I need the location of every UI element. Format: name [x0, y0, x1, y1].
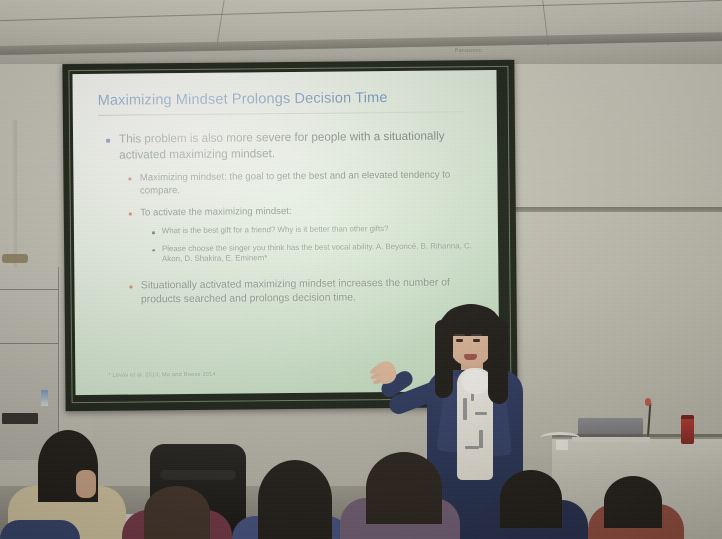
cable [540, 432, 580, 444]
slide-footnote: * Levav et al. 2013; Ma and Roese 2014 [108, 372, 215, 379]
right-wall-seam [512, 207, 722, 212]
equipment-cabinet[interactable] [0, 267, 59, 460]
bullet-level3: What is the best gift for a friend? Why … [152, 223, 478, 237]
bullet-marker [152, 231, 155, 234]
thermos-cap [681, 415, 694, 419]
presenter-hair-left [435, 320, 453, 398]
audience-shoulders [0, 520, 80, 539]
bullet-marker [129, 285, 132, 288]
bullet-text: Please choose the singer you think has t… [162, 241, 478, 265]
presenter-hair-right [488, 320, 508, 404]
cabinet-top-object [2, 254, 28, 263]
cabinet-badge [41, 390, 48, 406]
cabinet-slot [2, 413, 38, 424]
bullet-marker [128, 178, 131, 181]
bullet-level1: This problem is also more severe for peo… [106, 128, 479, 163]
slide-bullets: This problem is also more severe for peo… [73, 128, 499, 308]
bullet-marker [129, 213, 132, 216]
audience-head [604, 476, 662, 528]
chair-seam [160, 470, 236, 480]
audience-head [144, 486, 210, 539]
audience-head [258, 460, 332, 539]
bullet-level2: Maximizing mindset: the goal to get the … [128, 168, 475, 197]
lecture-photo: Panasonic Maximizing Mindset Prolongs De… [0, 0, 722, 539]
bullet-text: Maximizing mindset: the goal to get the … [140, 168, 476, 197]
bullet-marker [152, 249, 155, 252]
microphone-head [645, 398, 651, 406]
audience-head [366, 452, 442, 524]
thermos [681, 418, 694, 444]
bullet-text: This problem is also more severe for peo… [119, 128, 479, 162]
bullet-text: To activate the maximizing mindset: [140, 205, 292, 219]
audience-ear [76, 470, 96, 498]
bullet-level2: To activate the maximizing mindset: [129, 203, 476, 219]
wall-conduit [10, 120, 17, 270]
ceiling [0, 0, 722, 64]
bullet-level3: Please choose the singer you think has t… [152, 241, 478, 265]
projector-label: Panasonic [455, 48, 525, 55]
laptop-base [572, 437, 650, 442]
bullet-marker [106, 139, 110, 143]
presenter-mouth [464, 354, 477, 360]
audience-head [500, 470, 562, 528]
title-underline [98, 111, 464, 116]
bullet-text: What is the best gift for a friend? Why … [162, 224, 389, 237]
presenter-scarf-knot [462, 370, 489, 394]
slide-title: Maximizing Mindset Prolongs Decision Tim… [98, 89, 479, 109]
